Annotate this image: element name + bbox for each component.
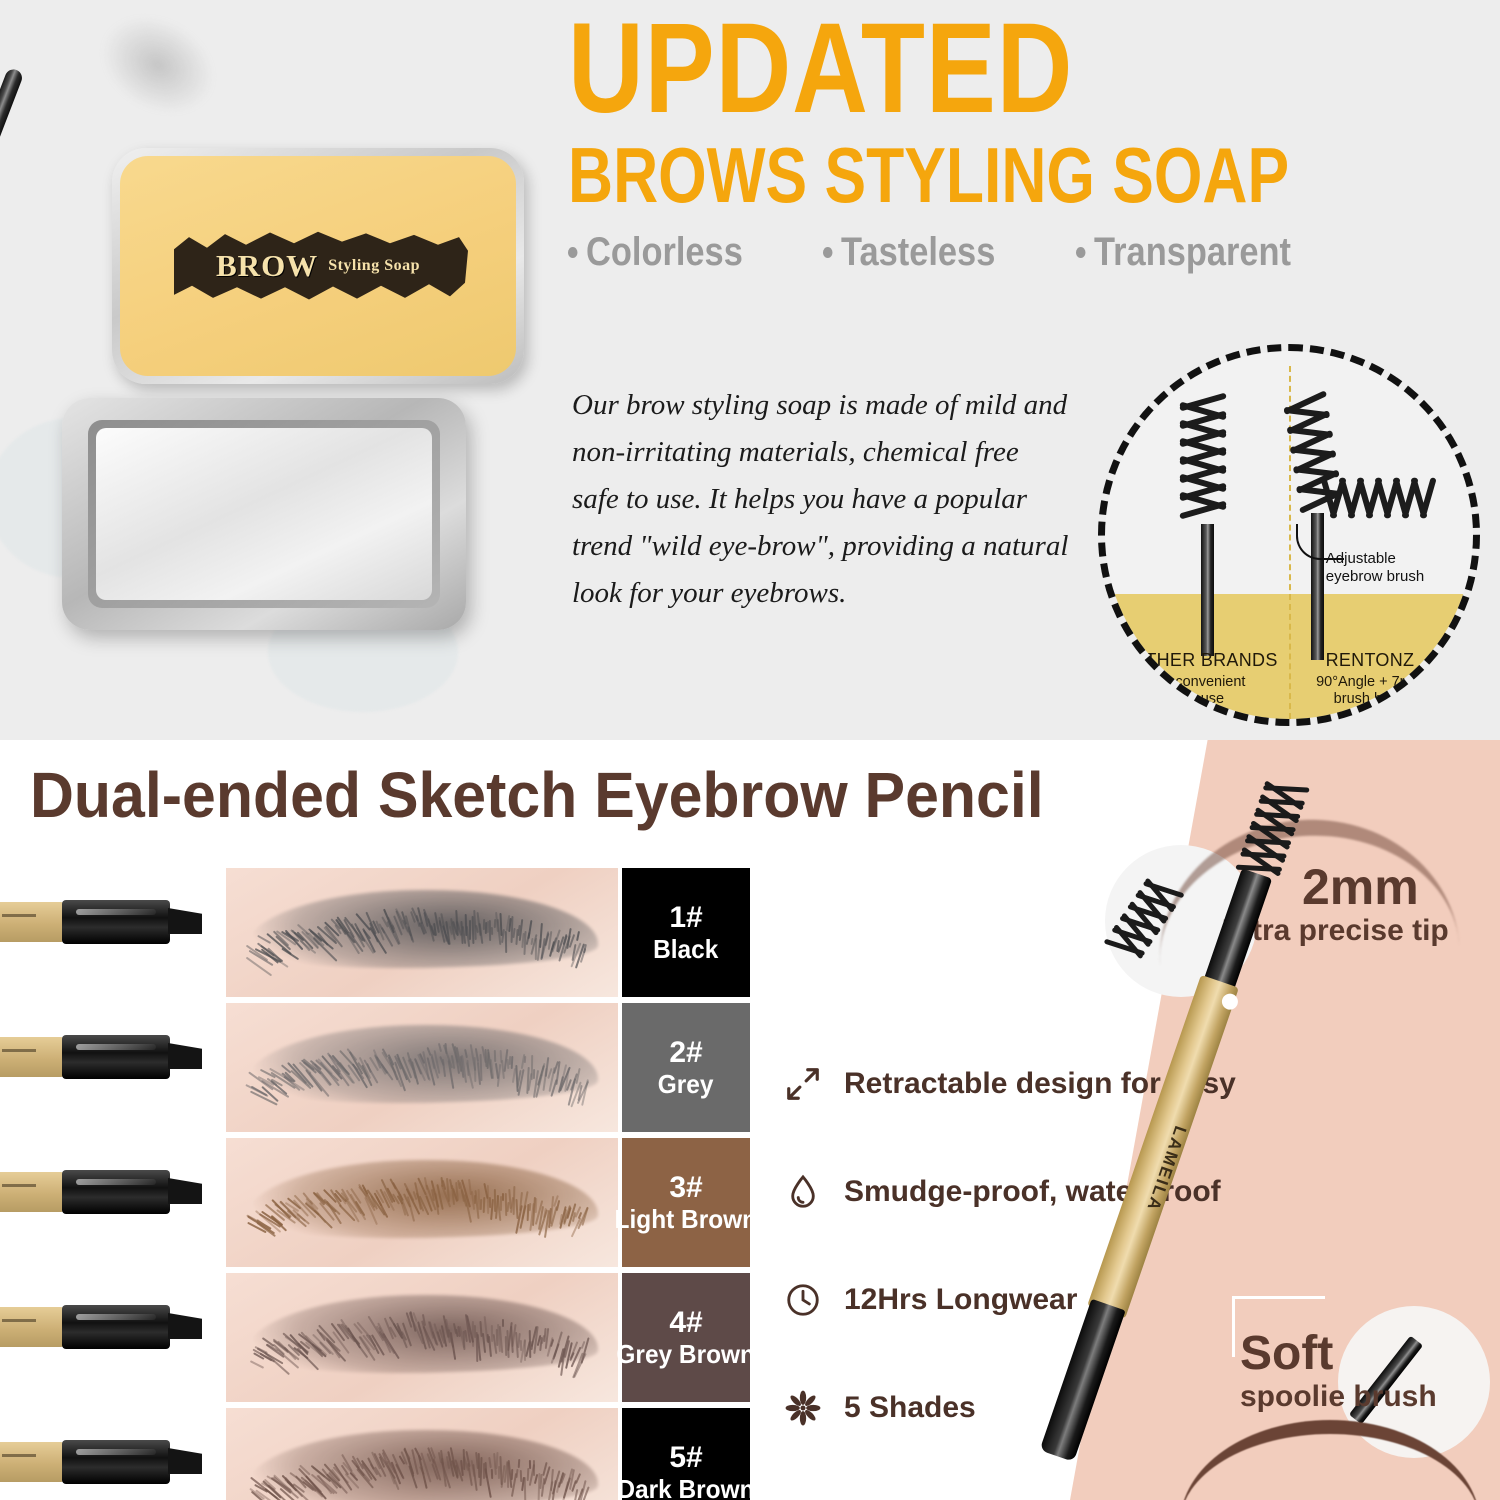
soap-tin-lid: BROW Styling Soap: [112, 148, 524, 384]
shade-name: Grey: [658, 1070, 714, 1098]
brow-hair: [488, 1457, 492, 1468]
expand-arrow-icon: [784, 1065, 822, 1103]
tin-brand-text: BROW: [216, 248, 318, 284]
spoolie-callout-desc: spoolie brush: [1240, 1380, 1437, 1414]
pencil-angled-tip: [168, 1313, 202, 1339]
tin-product-text: Styling Soap: [328, 257, 420, 275]
brow-hair: [493, 1050, 495, 1063]
pencil-black-body: [62, 1440, 170, 1484]
brow-hair: [511, 1056, 514, 1069]
shade-row: 4#Grey Brown: [0, 1273, 760, 1402]
spoolie-handle: [0, 67, 24, 381]
brow-hair: [518, 1459, 521, 1468]
bristle: [136, 0, 154, 10]
water-drop-icon: [784, 1173, 822, 1211]
brow-hair: [533, 1460, 535, 1476]
brow-hair: [556, 1200, 560, 1211]
shade-list: 1#Black2#Grey3#Light Brown4#Grey Brown5#…: [0, 868, 760, 1500]
brow-hair: [313, 1209, 333, 1229]
brow-hair: [515, 1468, 518, 1477]
brow-hair: [491, 927, 493, 935]
brow-hair: [482, 1197, 485, 1213]
brow-swatch-photo: [226, 1138, 618, 1267]
brow-hair: [502, 1319, 504, 1327]
pencil-gold-body: [0, 902, 64, 942]
bullet-transparent: Transparent: [1076, 230, 1291, 275]
shade-name: Dark Brown: [617, 1475, 754, 1500]
brow-hair: [526, 1468, 529, 1481]
bristle: [131, 0, 159, 3]
bristle: [131, 0, 159, 3]
pencil-thumbnail: [0, 1434, 202, 1488]
shade-label: 3#Light Brown: [622, 1138, 750, 1267]
shade-row: 1#Black: [0, 868, 760, 997]
pencil-thumbnail: [0, 894, 202, 948]
feature-label: 5 Shades: [844, 1391, 976, 1425]
bristle: [136, 0, 154, 10]
pencil-gold-body: [0, 1442, 64, 1482]
shade-label: 2#Grey: [622, 1003, 750, 1132]
brush-comparison-diagram: Adjustable eyebrow brush OTHER BRANDS In…: [1098, 344, 1480, 726]
shade-number: 3#: [669, 1172, 702, 1204]
feature-bullets: Colorless Tasteless Transparent: [568, 230, 1468, 275]
shade-row: 5#Dark Brown: [0, 1408, 760, 1500]
pencil-thumbnail: [0, 1164, 202, 1218]
brow-hair: [529, 1460, 531, 1469]
product-infographic: BROW Styling Soap UPDATED BROWS STYLING …: [0, 0, 1500, 1500]
shade-name: Black: [653, 935, 718, 963]
brow-hair: [250, 1360, 264, 1369]
brow-hair: [480, 1054, 483, 1081]
shade-label: 1#Black: [622, 868, 750, 997]
brow-hair: [504, 931, 506, 953]
bullet-dot-icon: [823, 247, 832, 258]
feature-label: 12Hrs Longwear: [844, 1283, 1077, 1317]
dashed-circle-border: [1098, 344, 1480, 726]
brow-swatch-photo: [226, 868, 618, 997]
flower-icon: [784, 1389, 822, 1427]
bristle: [131, 0, 159, 3]
brow-hair: [450, 1332, 456, 1360]
section-title: Dual-ended Sketch Eyebrow Pencil: [30, 758, 1044, 832]
bullet-dot-icon: [1076, 247, 1085, 258]
headline-secondary: BROWS STYLING SOAP: [568, 136, 1288, 214]
brow-hair: [473, 1057, 476, 1082]
brow-hair: [524, 1056, 527, 1063]
pencil-thumbnail: [0, 1029, 202, 1083]
bullet-tasteless: Tasteless: [823, 230, 995, 275]
soap-bar: [96, 428, 432, 600]
shade-row: 3#Light Brown: [0, 1138, 760, 1267]
bristle: [131, 0, 159, 3]
bristle: [131, 0, 159, 3]
pencil-black-body: [62, 1035, 170, 1079]
shade-label: 4#Grey Brown: [622, 1273, 750, 1402]
bristle: [131, 0, 159, 3]
bristle: [136, 0, 154, 10]
brow-hair: [535, 1198, 537, 1213]
brow-swatch-photo: [226, 1273, 618, 1402]
shade-label: 5#Dark Brown: [622, 1408, 750, 1500]
bristle: [136, 0, 154, 10]
brow-hair: [575, 1473, 581, 1484]
feature-item: 5 Shades: [784, 1354, 1254, 1462]
tip-size-label: 2mm: [1302, 862, 1449, 912]
brow-hairs: [226, 868, 618, 997]
pencil-black-body: [62, 1170, 170, 1214]
bullet-label: Transparent: [1094, 230, 1291, 275]
soap-tin-open: [62, 398, 466, 630]
brow-hairs: [226, 1408, 618, 1500]
pencil-angled-tip: [168, 1178, 202, 1204]
bristle: [136, 0, 154, 10]
bristle: [136, 0, 154, 10]
bullet-colorless: Colorless: [568, 230, 743, 275]
tin-inner-rim: [88, 420, 440, 608]
pencil-angled-tip: [168, 1043, 202, 1069]
brow-hair: [265, 951, 289, 968]
shade-name: Grey Brown: [617, 1340, 756, 1368]
shade-number: 5#: [669, 1442, 702, 1474]
spoolie-callout-title: Soft: [1240, 1330, 1437, 1378]
brow-hair: [527, 920, 532, 939]
pencil-angled-tip: [168, 908, 202, 934]
pencil-gold-body: [0, 1307, 64, 1347]
clock-icon: [784, 1281, 822, 1319]
spoolie-callout: Soft spoolie brush: [1240, 1330, 1437, 1414]
brow-hair: [246, 957, 273, 977]
shade-name: Light Brown: [615, 1205, 758, 1233]
bullet-dot-icon: [568, 247, 577, 258]
brow-hairs: [226, 1273, 618, 1402]
headline-block: UPDATED BROWS STYLING SOAP Colorless Tas…: [568, 8, 1468, 275]
soap-section: BROW Styling Soap UPDATED BROWS STYLING …: [0, 0, 1500, 740]
brow-hairs: [226, 1138, 618, 1267]
brow-hair: [491, 1468, 493, 1478]
pencil-black-body: [62, 900, 170, 944]
shade-row: 2#Grey: [0, 1003, 760, 1132]
brow-hair: [438, 1043, 442, 1052]
bullet-label: Colorless: [586, 230, 743, 275]
pencil-thumbnail: [0, 1299, 202, 1353]
shade-number: 1#: [669, 902, 702, 934]
brow-hair: [576, 931, 580, 942]
tin-lid-label: BROW Styling Soap: [120, 156, 516, 376]
shade-number: 2#: [669, 1037, 702, 1069]
bristle: [136, 0, 154, 10]
brow-swatch-photo: [226, 1003, 618, 1132]
shade-number: 4#: [669, 1307, 702, 1339]
brow-hair: [442, 1059, 446, 1077]
product-description: Our brow styling soap is made of mild an…: [572, 382, 1072, 617]
bristle: [131, 0, 159, 3]
brow-swatch-photo: [226, 1408, 618, 1500]
brow-hair: [464, 1049, 468, 1058]
feature-item: 12Hrs Longwear: [784, 1246, 1254, 1354]
brushstroke-badge: BROW Styling Soap: [168, 228, 468, 304]
bullet-label: Tasteless: [841, 230, 995, 275]
pencil-black-body: [62, 1305, 170, 1349]
pencil-angled-tip: [168, 1448, 202, 1474]
pencil-gold-body: [0, 1037, 64, 1077]
headline-primary: UPDATED: [568, 8, 1306, 130]
pencil-gold-body: [0, 1172, 64, 1212]
brow-hair: [529, 1203, 532, 1211]
brow-hairs: [226, 1003, 618, 1132]
